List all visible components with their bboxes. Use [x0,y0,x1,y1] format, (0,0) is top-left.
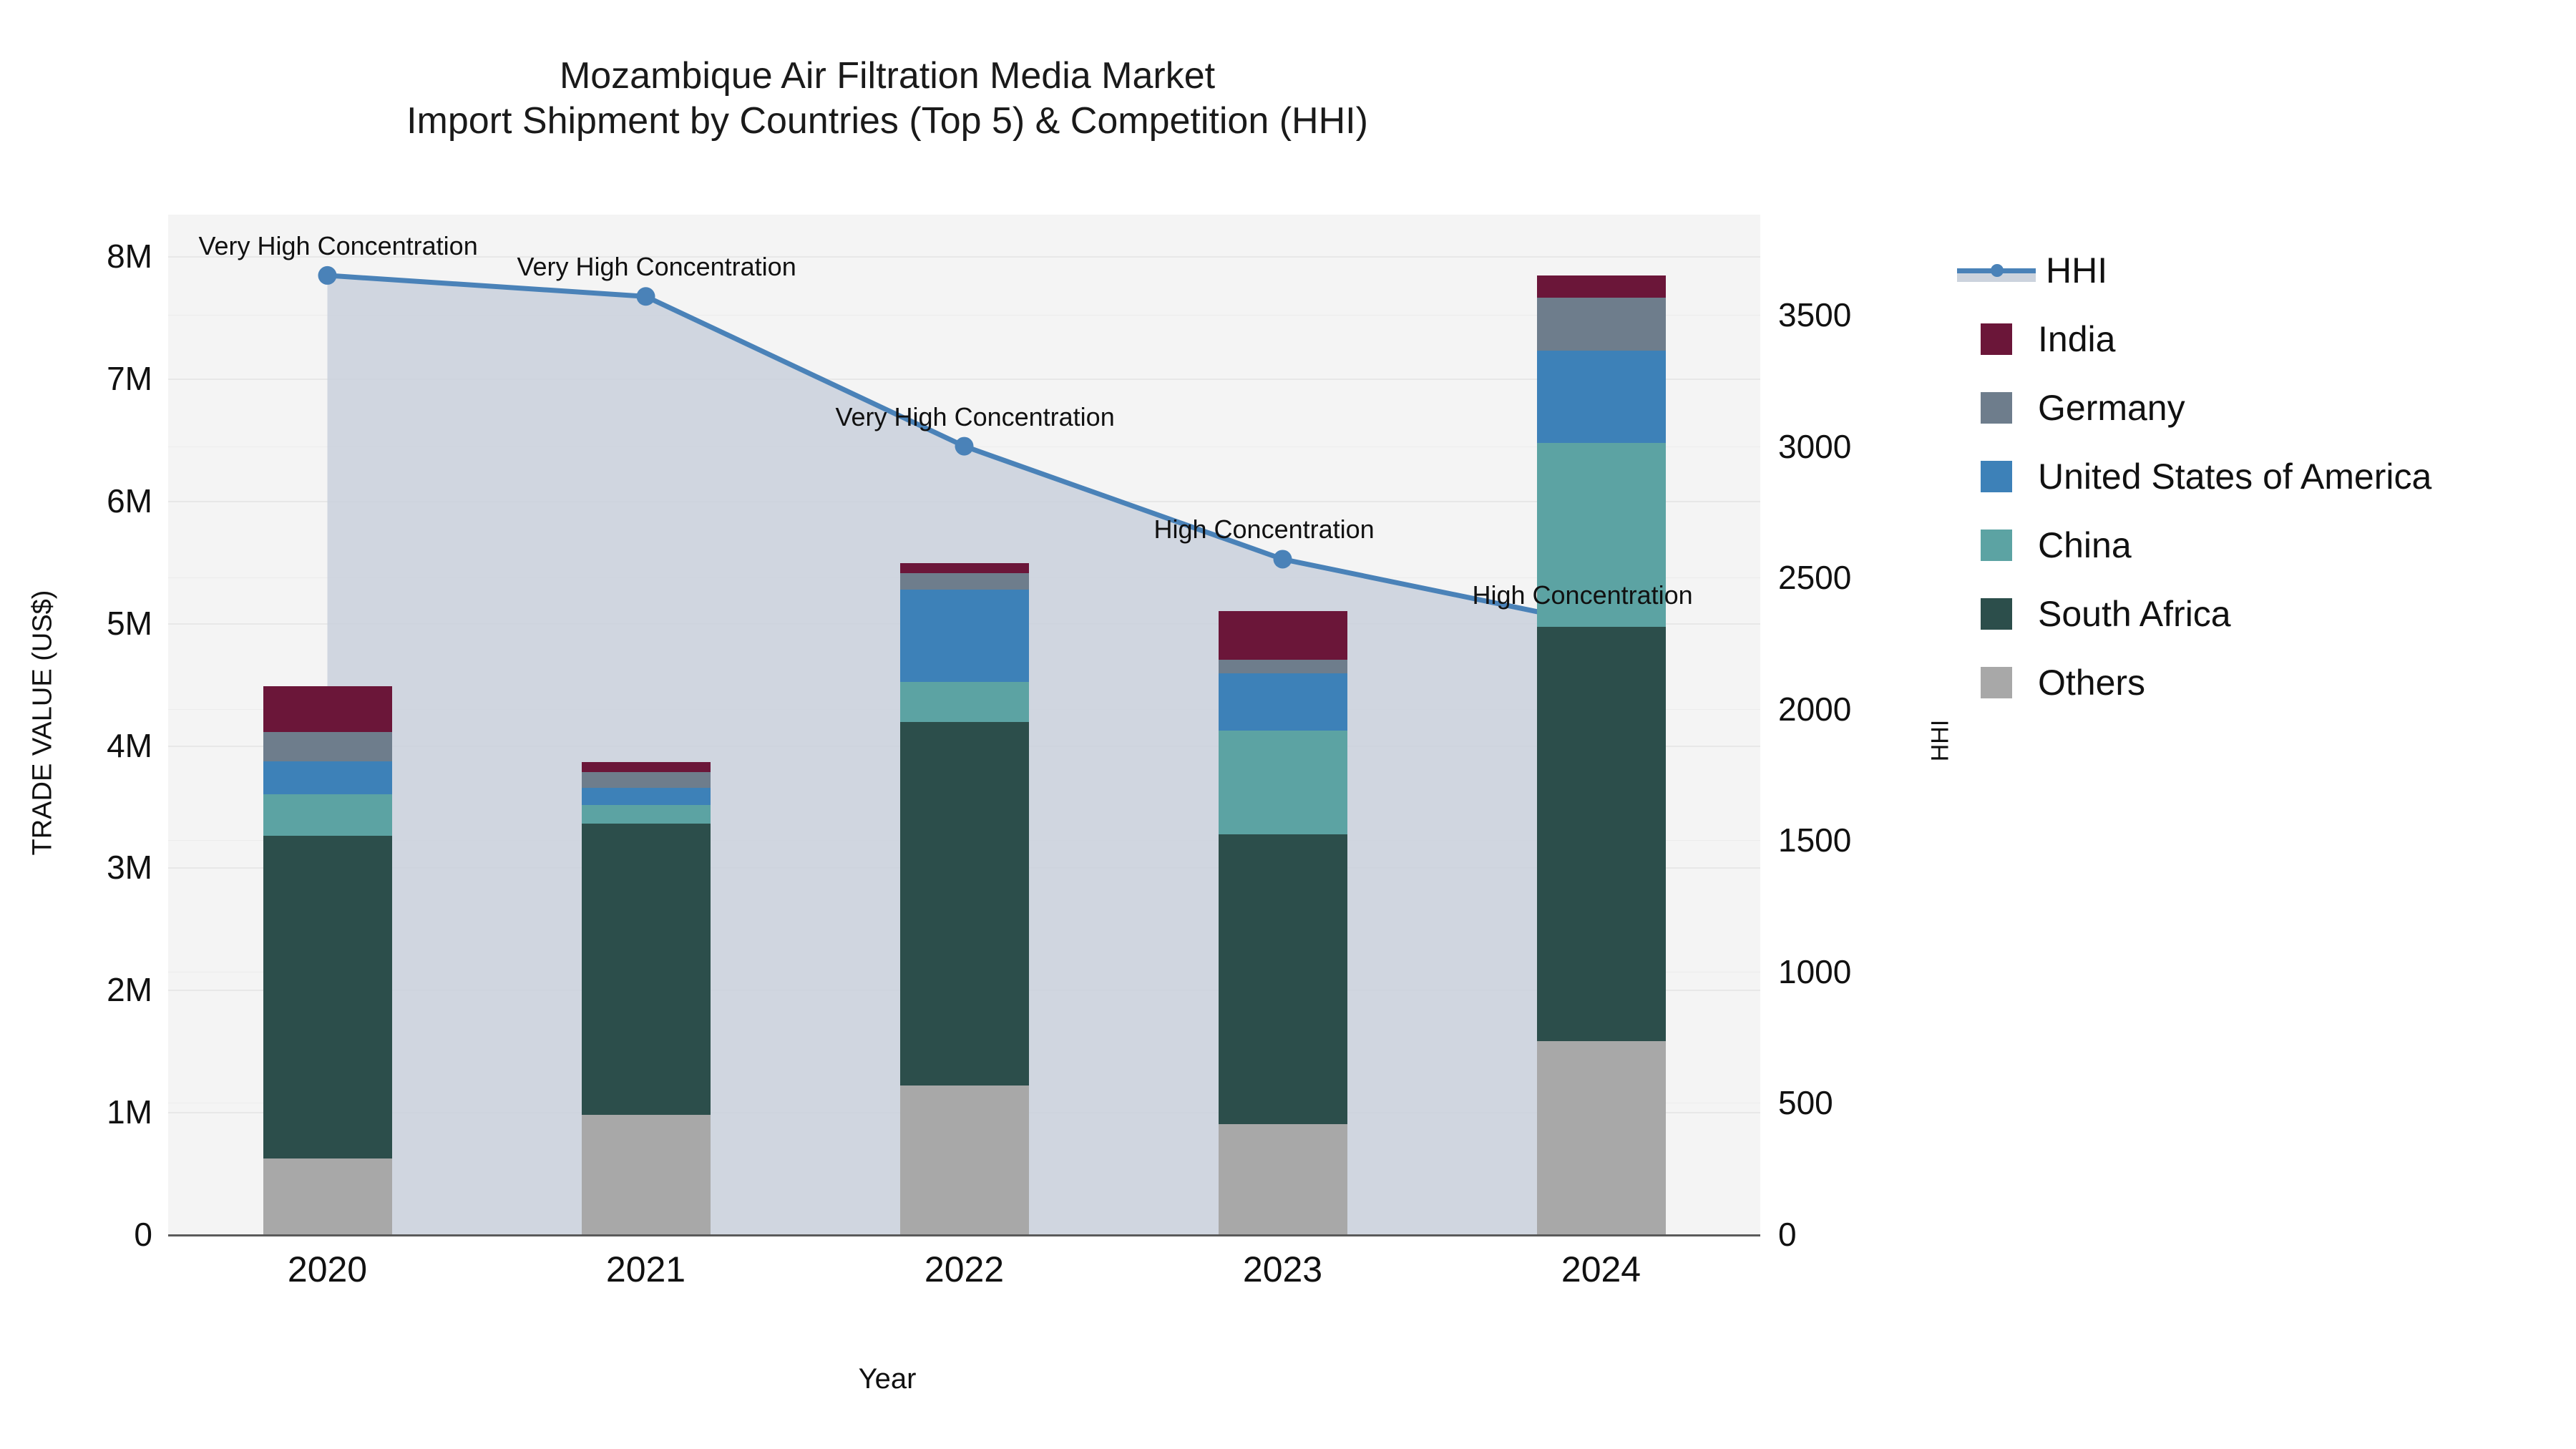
x-axis-tick: 2024 [1561,1249,1641,1290]
legend-item[interactable]: India [1957,305,2431,374]
x-axis-tick: 2023 [1243,1249,1322,1290]
hhi-marker[interactable] [955,437,974,456]
hhi-marker[interactable] [1274,550,1292,568]
y-axis-left-tick: 1M [107,1093,152,1131]
legend-item[interactable]: Germany [1957,374,2431,442]
legend-label: Germany [2038,387,2185,429]
y-axis-left-tick: 5M [107,604,152,643]
x-axis-title: Year [0,1363,1775,1395]
legend-swatch-icon [1981,461,2012,492]
y-axis-left-tick: 0 [134,1215,152,1254]
y-axis-right-tick: 2500 [1778,558,1851,597]
y-axis-left-tick: 7M [107,359,152,398]
x-axis-tick: 2020 [288,1249,367,1290]
y-axis-right-tick: 2000 [1778,690,1851,728]
bar-segment[interactable] [582,762,711,772]
hhi-annotation: Very High Concentration [199,231,478,261]
y-axis-right-tick: 3000 [1778,427,1851,466]
legend-marker-icon [1991,264,2004,277]
legend-item[interactable]: HHI [1957,236,2431,305]
bar-segment[interactable] [263,1158,392,1234]
legend-label: India [2038,318,2115,360]
chart-title-line-1: Mozambique Air Filtration Media Market [0,54,1775,99]
hhi-annotation: High Concentration [1154,514,1375,545]
y-axis-left-title: TRADE VALUE (US$) [28,590,59,856]
legend-item[interactable]: United States of America [1957,442,2431,511]
bar-segment[interactable] [582,805,711,824]
legend-label: United States of America [2038,456,2431,497]
y-axis-right-tick: 0 [1778,1215,1797,1254]
hhi-marker[interactable] [318,266,337,285]
legend-item[interactable]: South Africa [1957,580,2431,648]
y-axis-left-tick: 4M [107,726,152,765]
bar-segment[interactable] [1219,611,1347,660]
y-axis-right-tick: 1500 [1778,821,1851,859]
hhi-annotation: Very High Concentration [836,402,1115,432]
bar-segment[interactable] [1537,1041,1666,1234]
legend-swatch-icon [1981,667,2012,698]
legend-swatch-icon [1981,598,2012,630]
legend-swatch-icon [1981,530,2012,561]
bar-segment[interactable] [900,1085,1029,1234]
hhi-annotation: High Concentration [1473,580,1693,610]
chart-root: Mozambique Air Filtration Media Market I… [0,0,2576,1449]
legend-swatch-icon [1981,392,2012,424]
bar-segment[interactable] [900,590,1029,681]
chart-title-line-2: Import Shipment by Countries (Top 5) & C… [0,99,1775,144]
bar-segment[interactable] [263,761,392,794]
bar-segment[interactable] [1219,1124,1347,1234]
bar-segment[interactable] [1219,731,1347,834]
bar-segment[interactable] [263,794,392,836]
legend-label: South Africa [2038,593,2231,635]
x-axis-tick: 2022 [924,1249,1004,1290]
legend-swatch-icon [1981,323,2012,355]
bar-segment[interactable] [900,563,1029,573]
y-axis-left-tick: 6M [107,482,152,520]
legend-label: Others [2038,662,2145,703]
legend-item[interactable]: Others [1957,648,2431,717]
y-axis-right-title: HHI [1927,720,1955,762]
bar-segment[interactable] [582,824,711,1115]
legend-label: China [2038,525,2132,566]
bar-segment[interactable] [1537,627,1666,1041]
bar-segment[interactable] [900,722,1029,1085]
legend: HHIIndiaGermanyUnited States of AmericaC… [1957,236,2431,717]
bar-segment[interactable] [1219,660,1347,673]
bar-segment[interactable] [1537,298,1666,350]
chart-title: Mozambique Air Filtration Media Market I… [0,54,1775,145]
legend-label: HHI [2046,250,2107,291]
hhi-annotation: Very High Concentration [517,252,796,282]
bar-segment[interactable] [900,682,1029,722]
legend-item[interactable]: China [1957,511,2431,580]
y-axis-right-tick: 3500 [1778,296,1851,334]
y-axis-right-tick: 500 [1778,1083,1833,1122]
bar-segment[interactable] [263,836,392,1158]
bar-segment[interactable] [1219,673,1347,731]
bar-segment[interactable] [263,732,392,761]
y-axis-left-tick: 3M [107,848,152,887]
legend-line-icon [1957,255,2036,286]
bar-segment[interactable] [263,686,392,731]
x-axis-tick: 2021 [606,1249,686,1290]
bar-segment[interactable] [1219,834,1347,1124]
hhi-marker[interactable] [637,287,655,306]
bar-segment[interactable] [582,772,711,788]
bar-segment[interactable] [582,1115,711,1234]
y-axis-left-tick: 8M [107,237,152,275]
bar-segment[interactable] [582,788,711,805]
bar-segment[interactable] [1537,275,1666,298]
bar-segment[interactable] [1537,351,1666,444]
bar-segment[interactable] [900,573,1029,590]
y-axis-left-tick: 2M [107,970,152,1009]
y-axis-right-tick: 1000 [1778,952,1851,991]
